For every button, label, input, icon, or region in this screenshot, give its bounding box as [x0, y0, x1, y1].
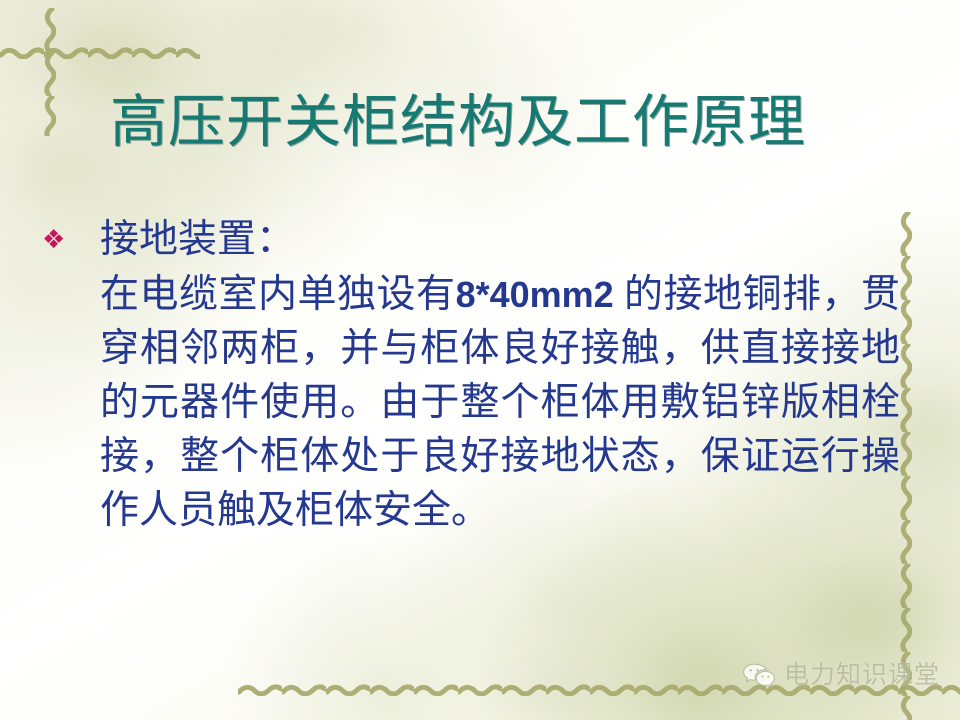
diamond-bullet-icon: ❖ — [36, 214, 100, 266]
body-paragraph: 在电缆室内单独设有8*40mm2 的接地铜排，贯穿相邻两柜，并与柜体良好接触，供… — [100, 268, 900, 538]
paragraph-emphasis-spec: 8*40mm2 — [456, 274, 614, 315]
slide-title: 高压开关柜结构及工作原理 — [110, 92, 890, 154]
wechat-icon — [742, 662, 776, 688]
slide-canvas: 高压开关柜结构及工作原理 ❖ 接地装置： 在电缆室内单独设有8*40mm2 的接… — [0, 0, 960, 720]
watermark-label: 电力知识课堂 — [784, 660, 940, 690]
watermark: 电力知识课堂 — [742, 660, 940, 690]
bullet-heading-label: 接地装置： — [100, 214, 295, 266]
decorative-left-wavy-rule — [44, 8, 56, 136]
slide-body: ❖ 接地装置： 在电缆室内单独设有8*40mm2 的接地铜排，贯穿相邻两柜，并与… — [36, 214, 916, 538]
paragraph-part-1: 在电缆室内单独设有 — [100, 273, 456, 316]
decorative-top-wavy-rule — [0, 47, 200, 59]
bullet-heading-row: ❖ 接地装置： — [36, 214, 916, 266]
